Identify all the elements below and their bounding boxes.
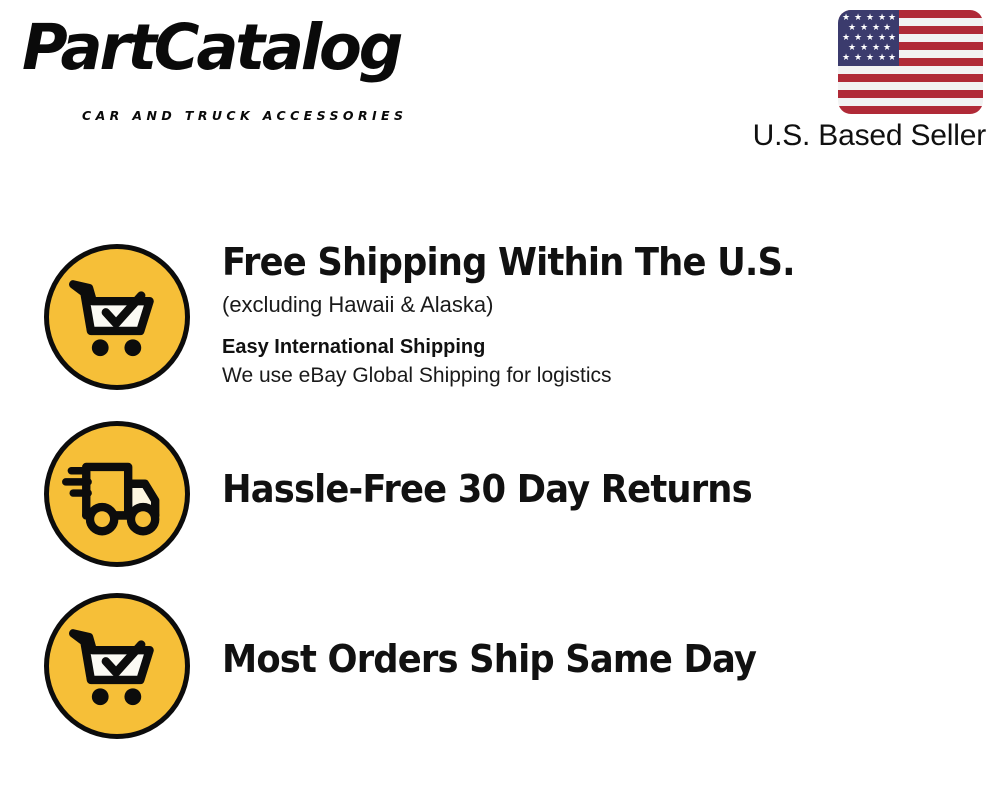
feature-list: Free Shipping Within The U.S. (excluding…: [0, 0, 1000, 800]
cart-check-glyph: [49, 598, 185, 734]
feature-headline: Hassle-Free 30 Day Returns: [222, 469, 929, 510]
feature-headline: Free Shipping Within The U.S.: [222, 242, 929, 283]
feature-text-block: Free Shipping Within The U.S. (excluding…: [222, 242, 982, 389]
feature-note: (excluding Hawaii & Alaska): [222, 291, 982, 319]
feature-row: Hassle-Free 30 Day Returns: [0, 419, 1000, 574]
shopping-cart-check-icon: [44, 593, 190, 739]
feature-sub-heading: Easy International Shipping: [222, 335, 982, 360]
feature-row: Free Shipping Within The U.S. (excluding…: [0, 242, 1000, 412]
cart-check-glyph: [49, 249, 185, 385]
feature-text-block: Most Orders Ship Same Day: [222, 639, 982, 680]
delivery-truck-icon: [44, 421, 190, 567]
feature-sub-text: We use eBay Global Shipping for logistic…: [222, 363, 982, 389]
shopping-cart-check-icon: [44, 244, 190, 390]
feature-headline: Most Orders Ship Same Day: [222, 639, 929, 680]
truck-glyph: [49, 426, 185, 562]
feature-row: Most Orders Ship Same Day: [0, 591, 1000, 746]
feature-text-block: Hassle-Free 30 Day Returns: [222, 469, 982, 510]
